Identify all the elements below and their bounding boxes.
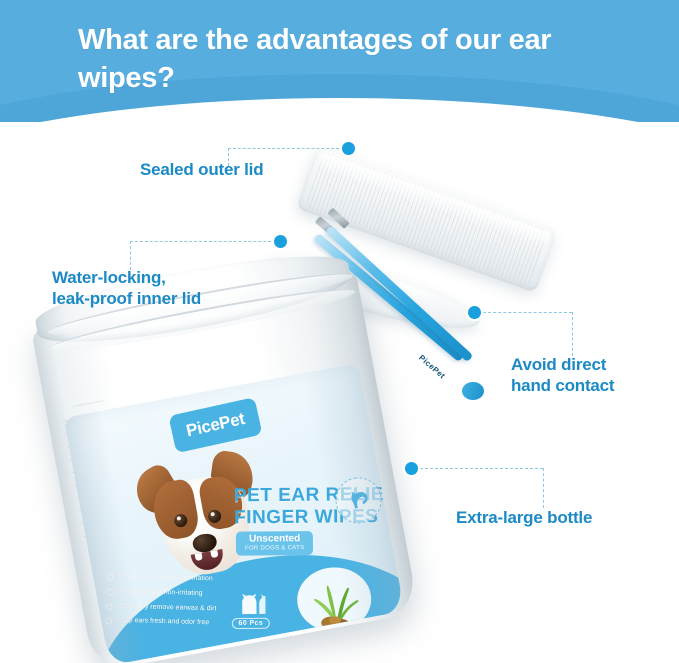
brand-name: PicePet — [184, 409, 246, 441]
callout-label-inner-lid[interactable]: Water-locking, leak-proof inner lid — [52, 268, 201, 309]
unscented-badge: Unscented FOR DOGS & CATS — [236, 531, 314, 555]
callout-leader-inner-lid-v — [130, 241, 131, 270]
callout-dot-hand-contact[interactable] — [468, 306, 481, 319]
callout-leader-hand-contact-h — [478, 312, 572, 313]
piece-count-text: 60 Pcs — [231, 617, 270, 628]
callout-leader-inner-lid-h — [130, 241, 276, 242]
callout-leader-extra-large-bottle-h — [415, 468, 543, 469]
unscented-sublabel: FOR DOGS & CATS — [245, 545, 304, 552]
label-left-shading — [64, 410, 149, 663]
callout-label-hand-contact[interactable]: Avoid direct hand contact — [511, 355, 614, 396]
cat-dog-silhouette-icon — [234, 591, 268, 615]
infographic-canvas: What are the advantages of our ear wipes… — [0, 0, 679, 663]
tweezer-brand-text: PicePet — [417, 353, 447, 381]
piece-count-badge: 60 Pcs — [214, 587, 288, 634]
callout-dot-sealed-outer-lid[interactable] — [342, 142, 355, 155]
callout-leader-sealed-outer-lid-h — [228, 148, 344, 149]
callout-label-sealed-outer-lid[interactable]: Sealed outer lid — [140, 160, 263, 181]
callout-leader-extra-large-bottle-v — [543, 468, 544, 508]
callout-dot-inner-lid[interactable] — [274, 235, 287, 248]
callout-leader-hand-contact-v — [572, 312, 573, 356]
bottle-label: PicePet — [64, 363, 405, 663]
callout-dot-extra-large-bottle[interactable] — [405, 462, 418, 475]
page-title: What are the advantages of our ear wipes… — [78, 22, 638, 97]
tweezer-joint — [462, 382, 484, 400]
unscented-label: Unscented — [245, 534, 304, 545]
callout-label-extra-large-bottle[interactable]: Extra-large bottle — [456, 508, 592, 529]
